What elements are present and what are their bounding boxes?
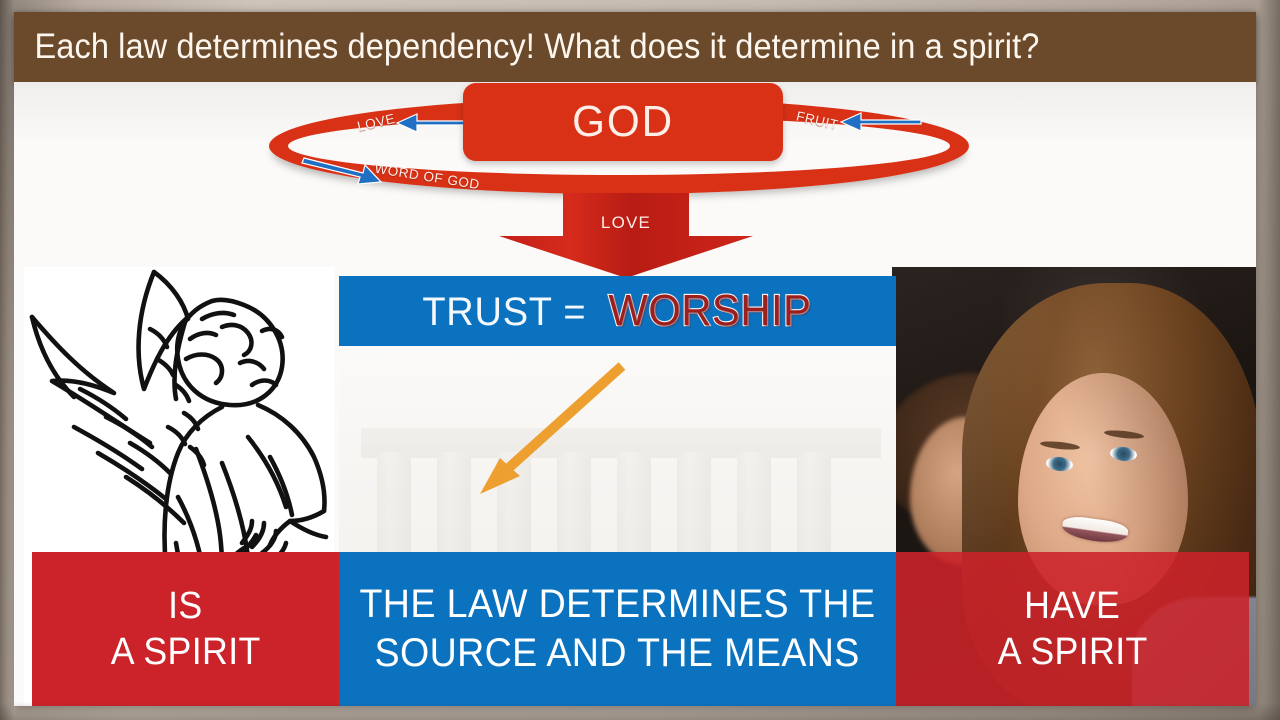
slide-body: LOVE FRUIT WORD OF GOD GOD <box>14 82 1256 706</box>
god-center-box: GOD <box>463 83 783 161</box>
page-title: Each law determines dependency! What doe… <box>14 27 1039 67</box>
slide-card: Each law determines dependency! What doe… <box>14 12 1256 706</box>
caption-left-line-2: A SPIRIT <box>111 629 261 675</box>
god-ring-diagram: LOVE FRUIT WORD OF GOD GOD <box>269 90 969 200</box>
orange-diagonal-arrow-icon <box>434 354 654 514</box>
caption-center-line-1: THE LAW DETERMINES THE <box>360 580 876 629</box>
title-bar: Each law determines dependency! What doe… <box>14 12 1256 82</box>
trust-line: TRUST = WORSHIP <box>418 286 816 336</box>
down-arrow-icon <box>491 193 761 278</box>
trust-equals-worship-banner: TRUST = WORSHIP <box>339 276 896 346</box>
caption-center-line-2: SOURCE AND THE MEANS <box>375 629 860 678</box>
worship-emphasis-label: WORSHIP <box>608 286 811 336</box>
caption-panel-have-a-spirit: HAVE A SPIRIT <box>896 552 1249 706</box>
god-label: GOD <box>572 97 674 147</box>
caption-panel-is-a-spirit: IS A SPIRIT <box>32 552 339 706</box>
blue-arrow-left-fruit-icon <box>835 109 923 135</box>
caption-panel-the-law-determines: THE LAW DETERMINES THE SOURCE AND THE ME… <box>339 552 896 706</box>
caption-left-line-1: IS <box>168 583 203 629</box>
caption-right-line-2: A SPIRIT <box>998 629 1148 675</box>
love-down-arrow: LOVE <box>491 193 761 278</box>
caption-right-line-1: HAVE <box>1024 583 1120 629</box>
trust-prefix-label: TRUST = <box>423 290 587 335</box>
slide-root: Each law determines dependency! What doe… <box>0 0 1280 720</box>
